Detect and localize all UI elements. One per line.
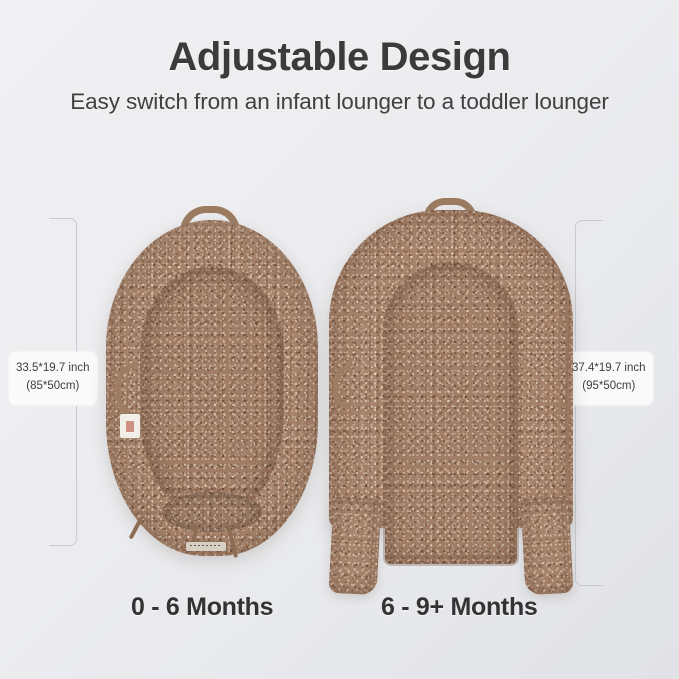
product-image-toddler-lounger — [329, 198, 573, 592]
page-title: Adjustable Design — [0, 36, 679, 78]
infographic-canvas: Adjustable Design Easy switch from an in… — [0, 0, 679, 679]
dimension-cm-infant: (85*50cm) — [16, 378, 90, 396]
bottom-gathered-closure — [162, 492, 262, 532]
mattress-cavity — [142, 268, 282, 514]
dimension-inch-toddler: 37.4*19.7 inch — [572, 362, 646, 374]
dimension-cm-toddler: (95*50cm) — [572, 378, 646, 396]
brand-label — [120, 414, 140, 438]
dimension-label-infant: 33.5*19.7 inch (85*50cm) — [9, 352, 97, 405]
drawstring-tie — [129, 516, 144, 539]
dimension-inch-infant: 33.5*19.7 inch — [16, 362, 90, 374]
extended-bumper-leg — [329, 497, 382, 595]
mattress-cavity — [385, 264, 517, 564]
page-subtitle: Easy switch from an infant lounger to a … — [0, 89, 679, 115]
heading-block: Adjustable Design Easy switch from an in… — [0, 36, 679, 115]
care-tag — [186, 542, 226, 551]
product-image-infant-lounger — [106, 206, 318, 556]
caption-toddler-age-range: 6 - 9+ Months — [381, 593, 538, 622]
caption-infant-age-range: 0 - 6 Months — [131, 593, 273, 622]
extended-bumper-leg — [521, 497, 574, 595]
dimension-label-toddler: 37.4*19.7 inch (95*50cm) — [565, 352, 653, 405]
